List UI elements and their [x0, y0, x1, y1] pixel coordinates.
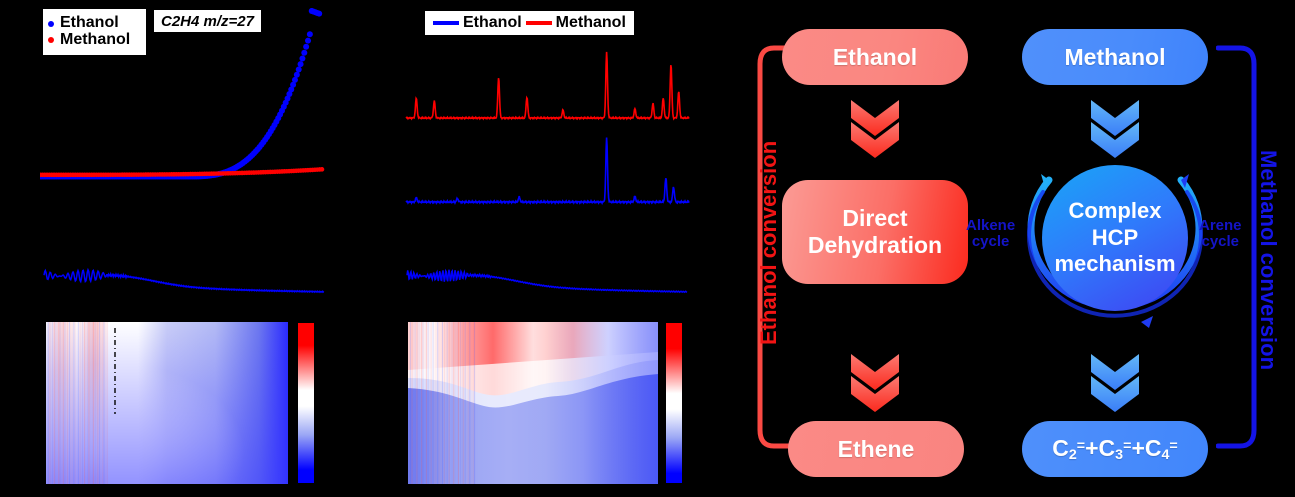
chevron-down-icon-ethanol-top	[849, 98, 901, 158]
node-light-olefins[interactable]: C2=+C3=+C4=	[1022, 421, 1208, 477]
label-ethanol-conversion: Ethanol conversion	[756, 141, 782, 345]
heatmap-middle	[408, 322, 658, 484]
light-olefins-formula: C2=+C3=+C4=	[1052, 435, 1178, 463]
legend-label-methanol: Methanol	[60, 32, 130, 49]
decay-trace-middle-svg	[405, 258, 693, 310]
node-complex-hcp-mechanism[interactable]: Complex HCP mechanism	[1042, 165, 1188, 311]
hcp-line3: mechanism	[1054, 251, 1175, 277]
arene-cycle-line1: Arene	[1199, 218, 1242, 234]
node-ethene[interactable]: Ethene	[788, 421, 964, 477]
label-methanol-conversion: Methanol conversion	[1255, 150, 1281, 370]
legend-label-spectra-methanol: Methanol	[556, 14, 626, 32]
decay-trace-left-panel	[42, 258, 330, 310]
legend-entry-ethanol: Ethanol	[48, 15, 140, 32]
node-methanol[interactable]: Methanol	[1022, 29, 1208, 85]
decay-trace-left-svg	[42, 258, 330, 310]
heatmap-left	[46, 322, 288, 484]
legend-spectra: Ethanol Methanol	[424, 10, 635, 36]
alkene-cycle-line1: Alkene	[966, 218, 1015, 234]
legend-line-ethanol-icon	[433, 21, 459, 25]
arene-cycle-line2: cycle	[1199, 234, 1242, 250]
chevron-down-icon-ethanol-bottom	[849, 352, 901, 412]
legend-label-ethanol: Ethanol	[60, 15, 119, 32]
heatmap-middle-svg	[408, 322, 658, 484]
annotation-c2h4: C2H4 m/z=27	[153, 9, 262, 33]
spectra-plot-svg	[400, 40, 695, 210]
legend-label-spectra-ethanol: Ethanol	[463, 14, 522, 32]
node-direct-dehydration[interactable]: Direct Dehydration	[782, 180, 968, 284]
colorbar-middle	[665, 322, 683, 484]
spectra-plot-panel	[400, 40, 695, 210]
direct-dehydration-line1: Direct	[808, 205, 942, 232]
node-ethanol[interactable]: Ethanol	[782, 29, 968, 85]
chevron-down-icon-methanol-bottom	[1089, 352, 1141, 412]
heatmap-left-svg	[46, 322, 288, 484]
label-alkene-cycle: Alkene cycle	[966, 218, 1015, 250]
label-arene-cycle: Arene cycle	[1199, 218, 1242, 250]
legend-dot-ethanol-icon	[48, 21, 54, 27]
direct-dehydration-line2: Dehydration	[808, 232, 942, 259]
legend-line-methanol-icon	[526, 21, 552, 25]
legend-scatter: Ethanol Methanol	[42, 8, 147, 56]
colorbar-left	[297, 322, 315, 484]
decay-trace-middle-panel	[405, 258, 693, 310]
legend-entry-methanol: Methanol	[48, 32, 140, 49]
chevron-down-icon-methanol-top	[1089, 98, 1141, 158]
legend-dot-methanol-icon	[48, 37, 54, 43]
hcp-line1: Complex	[1054, 198, 1175, 224]
figure-root: Ethanol Methanol C2H4 m/z=27 Ethanol Met…	[0, 0, 1295, 497]
hcp-line2: HCP	[1054, 225, 1175, 251]
alkene-cycle-line2: cycle	[966, 234, 1015, 250]
